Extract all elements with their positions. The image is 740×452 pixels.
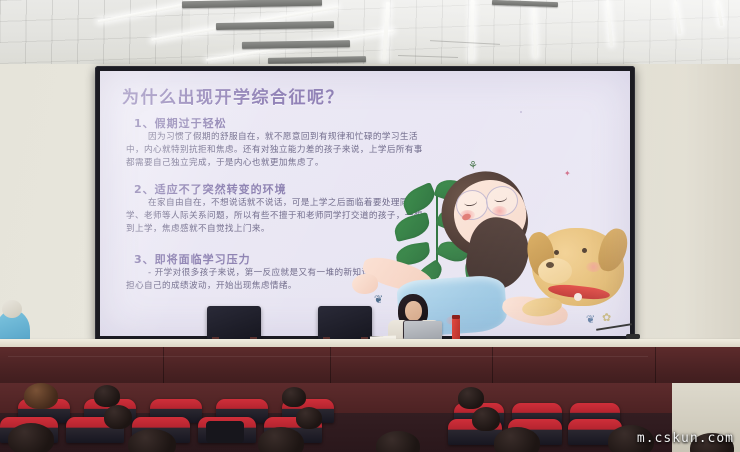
watermark: m.cskun.com	[637, 431, 734, 446]
decorative-sprig-1: ❦	[374, 294, 383, 305]
audience-head	[472, 407, 500, 431]
slide-section-heading-2: 2、适应不了突然转变的环境	[134, 181, 287, 197]
audience-head	[94, 385, 120, 407]
podium-seam-4	[655, 347, 656, 385]
dog-eye-right	[582, 248, 587, 253]
podium-panel-line	[8, 356, 648, 357]
dog-eye-left	[554, 250, 559, 255]
audience-head	[128, 429, 176, 452]
dog-snout	[538, 258, 572, 284]
decorative-sprig-4: ⚘	[468, 160, 478, 171]
podium-seam-1	[163, 347, 164, 385]
podium-seam-2	[330, 347, 331, 385]
foreground-person-head	[2, 300, 22, 318]
slide-section-heading-1: 1、假期过于轻松	[134, 115, 227, 131]
audience-head	[376, 431, 420, 452]
decorative-sprig-3: ✿	[602, 312, 611, 323]
dog-nose	[546, 262, 554, 268]
audience-area	[0, 383, 740, 452]
audience-bag	[206, 421, 244, 443]
ceiling-highlight	[190, 0, 740, 64]
suspended-ceiling	[0, 0, 740, 64]
dog-blush	[586, 262, 601, 272]
projection-screen-bezel: 为什么出现开学综合征呢？ 1、假期过于轻松 因为习惯了假期的舒服自在，就不愿意回…	[95, 66, 635, 341]
lecture-hall-photo: 为什么出现开学综合征呢？ 1、假期过于轻松 因为习惯了假期的舒服自在，就不愿意回…	[0, 0, 740, 452]
audience-head	[258, 427, 304, 452]
decorative-butterfly: ✦	[564, 170, 571, 178]
audience-head	[104, 405, 132, 429]
slide-title: 为什么出现开学综合征呢？	[122, 83, 344, 108]
projection-screen: 为什么出现开学综合征呢？ 1、假期过于轻松 因为习惯了假期的舒服自在，就不愿意回…	[100, 71, 630, 336]
audience-head	[494, 427, 540, 452]
slide-section-heading-3: 3、即将面临学习压力	[134, 251, 251, 267]
podium-seam-3	[492, 347, 493, 385]
audience-head	[282, 387, 306, 407]
dog-collar-tag	[574, 293, 582, 301]
audience-head	[8, 423, 54, 452]
girl-blush-right	[492, 206, 507, 216]
presenter-face	[405, 301, 422, 321]
stage-chair-left	[207, 306, 261, 340]
slide-illustration: ❦ ❦ ✿ ⚘ ✦	[350, 166, 630, 336]
slide-speckle-1	[140, 281, 142, 283]
audience-head	[24, 383, 58, 409]
plant-leaf-3	[392, 212, 432, 242]
audience-head	[296, 407, 322, 429]
slide-speckle-3	[520, 111, 522, 113]
podium-desk-front	[0, 347, 740, 385]
stage-chair-right	[318, 306, 372, 340]
decorative-sprig-2: ❦	[586, 314, 595, 325]
audience-head	[458, 387, 484, 409]
thermos-cap	[452, 315, 460, 319]
slide-section-body-1: 因为习惯了假期的舒服自在，就不愿意回到有规律和忙碌的学习生活中，内心就特别抗拒和…	[126, 131, 426, 170]
plant-leaf-1	[399, 182, 439, 216]
